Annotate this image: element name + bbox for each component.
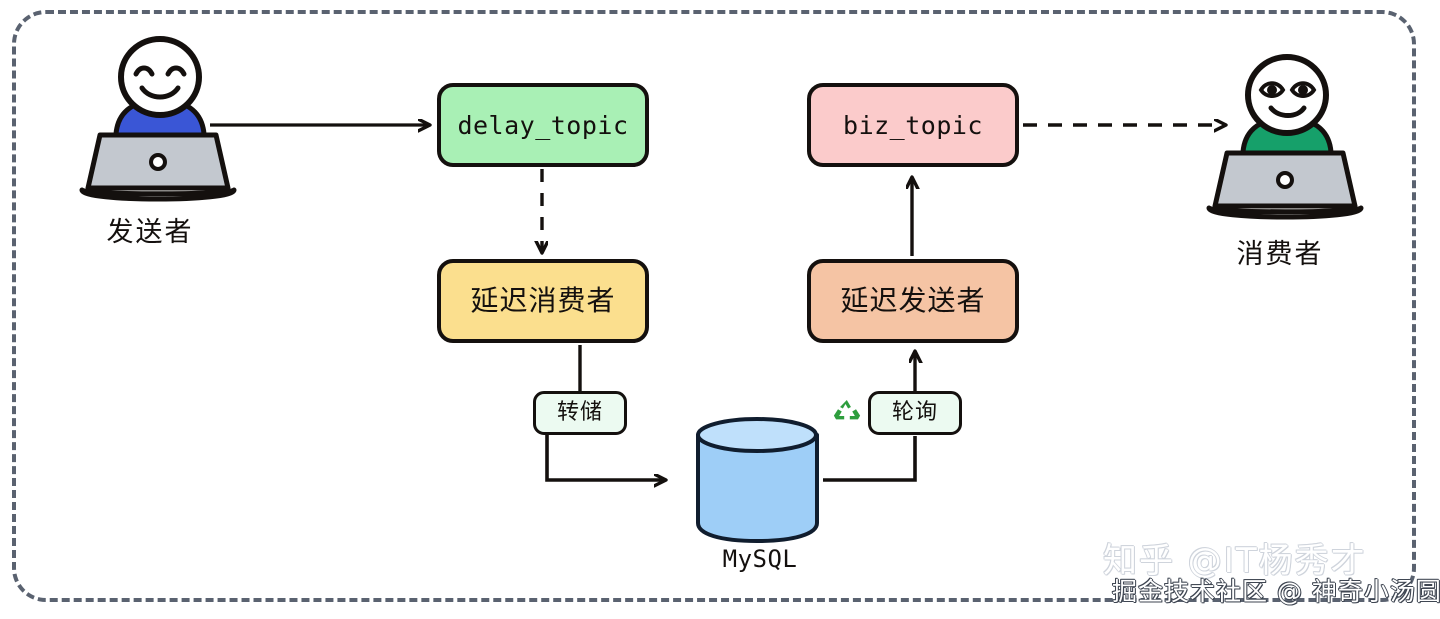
sender-person-icon xyxy=(78,30,238,210)
node-delay-topic-label: delay_topic xyxy=(457,113,628,138)
edge-label-poll[interactable]: 轮询 xyxy=(868,391,962,435)
mysql-label: MySQL xyxy=(680,545,840,573)
consumer-label: 消费者 xyxy=(1190,232,1370,271)
sender-label: 发送者 xyxy=(60,210,240,249)
node-delay-consumer[interactable]: 延迟消费者 xyxy=(437,259,649,343)
node-delay-sender-label: 延迟发送者 xyxy=(840,287,985,315)
mysql-database-icon xyxy=(690,415,825,545)
node-biz-topic-label: biz_topic xyxy=(843,113,983,138)
consumer-person-icon xyxy=(1205,48,1365,228)
node-delay-topic[interactable]: delay_topic xyxy=(437,83,649,167)
recycle-icon xyxy=(832,397,862,427)
node-biz-topic[interactable]: biz_topic xyxy=(807,83,1019,167)
edge-label-dump[interactable]: 转储 xyxy=(533,391,627,435)
edge-label-poll-text: 轮询 xyxy=(892,402,938,424)
node-delay-consumer-label: 延迟消费者 xyxy=(470,287,615,315)
edge-label-dump-text: 转储 xyxy=(557,402,603,424)
node-delay-sender[interactable]: 延迟发送者 xyxy=(807,259,1019,343)
diagram-canvas: 发送者 消费者 delay_topic biz_topic 延迟消费者 延迟发送… xyxy=(0,0,1440,619)
